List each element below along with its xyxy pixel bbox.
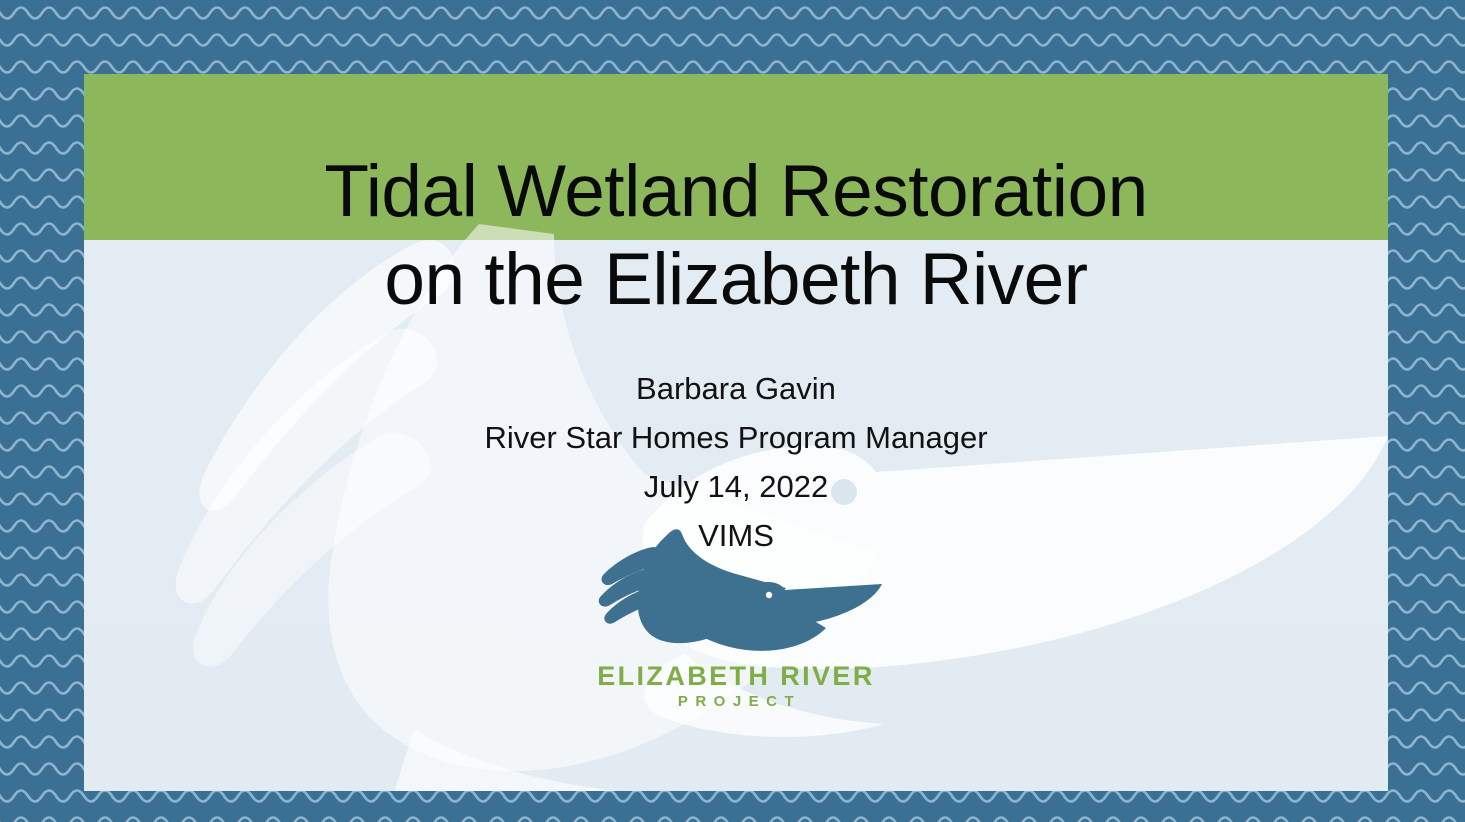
subtitle-date: July 14, 2022 — [84, 462, 1388, 511]
flying-osprey-icon — [586, 526, 886, 661]
title-line-1: Tidal Wetland Restoration — [84, 74, 1388, 236]
subtitle-presenter-name: Barbara Gavin — [84, 364, 1388, 413]
slide-content-card: Tidal Wetland Restoration on the Elizabe… — [84, 74, 1388, 791]
presentation-slide: Tidal Wetland Restoration on the Elizabe… — [0, 0, 1465, 822]
title-line-2: on the Elizabeth River — [84, 236, 1388, 324]
slide-title: Tidal Wetland Restoration on the Elizabe… — [84, 74, 1388, 324]
subtitle-presenter-role: River Star Homes Program Manager — [84, 413, 1388, 462]
logo-organization-name: ELIZABETH RIVER — [586, 661, 886, 691]
logo-tagline: PROJECT — [586, 691, 886, 713]
osprey-eye-icon — [766, 592, 772, 598]
elizabeth-river-project-logo: ELIZABETH RIVER PROJECT — [586, 526, 886, 713]
